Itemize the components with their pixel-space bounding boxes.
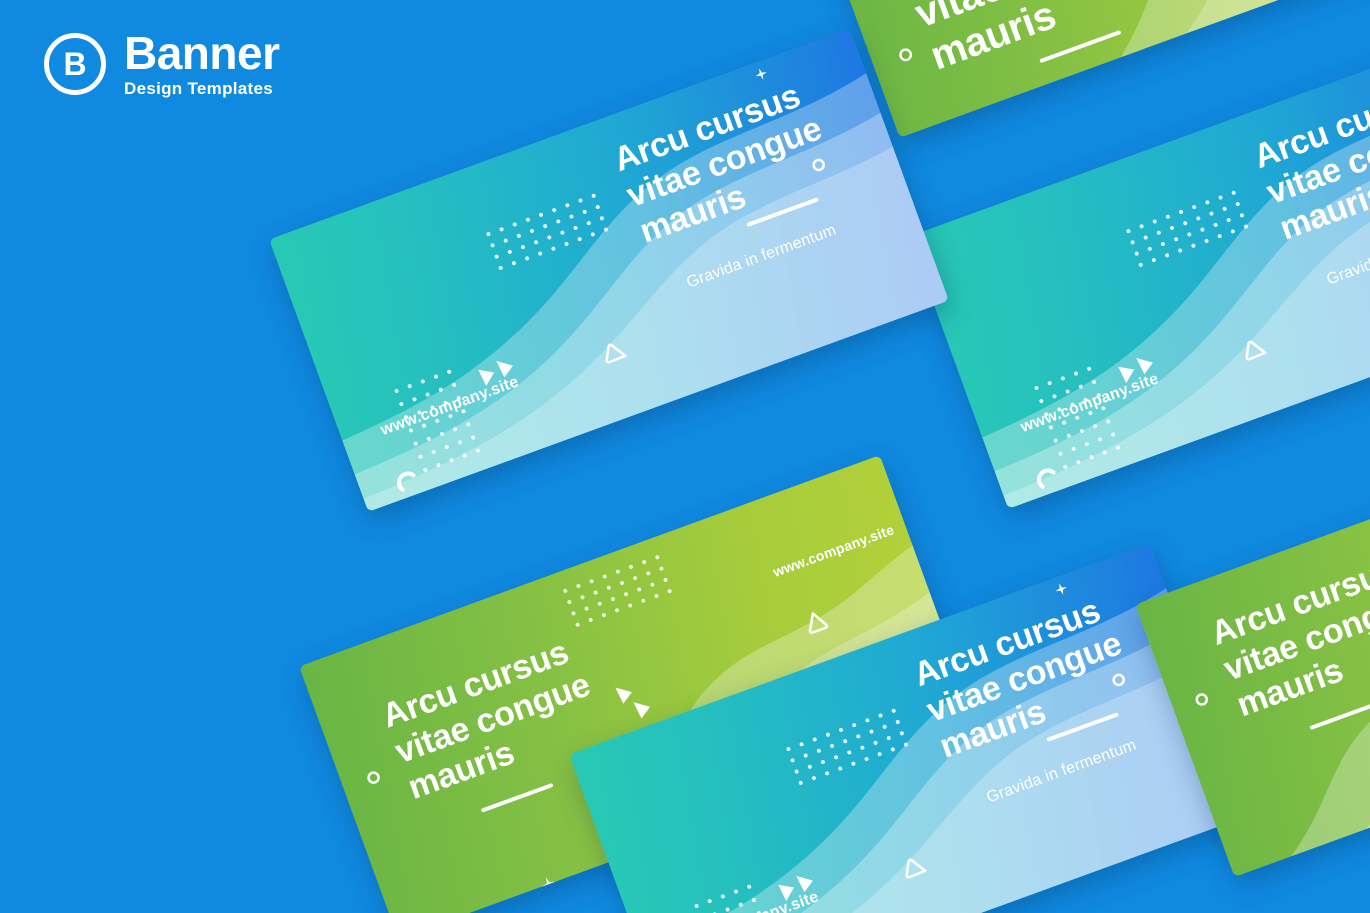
banner-main-blue[interactable]: Arcu cursus vitae congue mauris Gravida … [269,28,949,512]
poster-canvas: B Banner Design Templates Arcu cursus vi… [0,0,1370,913]
brand-logo: B Banner Design Templates [44,30,279,97]
logo-mark-letter: B [63,48,86,80]
logo-text-block: Banner Design Templates [124,30,279,97]
logo-circle-b-icon: B [44,33,106,95]
logo-subtitle: Design Templates [124,80,279,97]
banner-wave-decor [269,28,949,512]
logo-title: Banner [124,30,279,76]
